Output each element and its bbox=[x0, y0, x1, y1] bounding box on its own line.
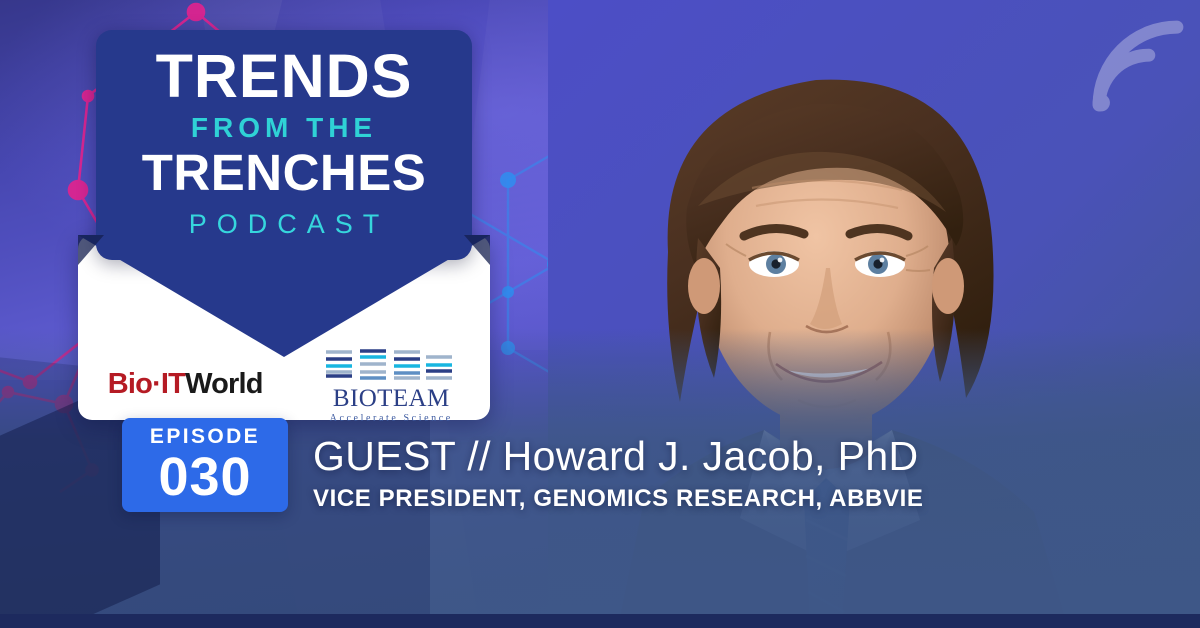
podcast-cover-poster: TRENDS FROM THE TRENCHES PODCAST Bio·ITW… bbox=[0, 0, 1200, 628]
bioteam-logo[interactable]: BIOTEAM Accelerate Science bbox=[322, 345, 460, 424]
episode-number: 030 bbox=[158, 450, 251, 504]
brand-title-fromthe: FROM THE bbox=[191, 110, 377, 145]
bioteam-wordmark: BIOTEAM bbox=[322, 386, 460, 411]
brand-title-trends: TRENDS bbox=[156, 48, 413, 106]
podcast-wifi-waves-icon bbox=[1084, 12, 1192, 120]
dna-gel-bands-icon bbox=[322, 345, 460, 385]
bio-it-world-logo[interactable]: Bio·ITWorld bbox=[108, 368, 263, 401]
guest-headline: GUEST // Howard J. Jacob, PhD bbox=[313, 434, 1103, 480]
bio-it-world-logo-red: Bio·IT bbox=[108, 368, 185, 400]
bottom-bar bbox=[0, 614, 1200, 628]
bioteam-tagline: Accelerate Science bbox=[322, 413, 460, 424]
episode-badge[interactable]: EPISODE 030 bbox=[122, 418, 288, 512]
bioteam-wordmark-text: BIOTEAM bbox=[333, 385, 450, 412]
brand-title-trenches: TRENCHES bbox=[142, 147, 427, 199]
envelope-flap bbox=[78, 235, 490, 357]
bio-it-world-logo-black: World bbox=[185, 368, 263, 400]
guest-job-title: VICE PRESIDENT, GENOMICS RESEARCH, ABBVI… bbox=[313, 485, 1103, 514]
brand-badge: TRENDS FROM THE TRENCHES PODCAST bbox=[96, 30, 472, 260]
envelope-flap-triangle bbox=[78, 235, 490, 357]
partner-logo-row: Bio·ITWorld bbox=[78, 348, 490, 420]
brand-envelope: TRENDS FROM THE TRENCHES PODCAST Bio·ITW… bbox=[78, 30, 490, 420]
episode-label: EPISODE bbox=[150, 426, 260, 447]
guest-info: GUEST // Howard J. Jacob, PhD VICE PRESI… bbox=[313, 434, 1103, 514]
